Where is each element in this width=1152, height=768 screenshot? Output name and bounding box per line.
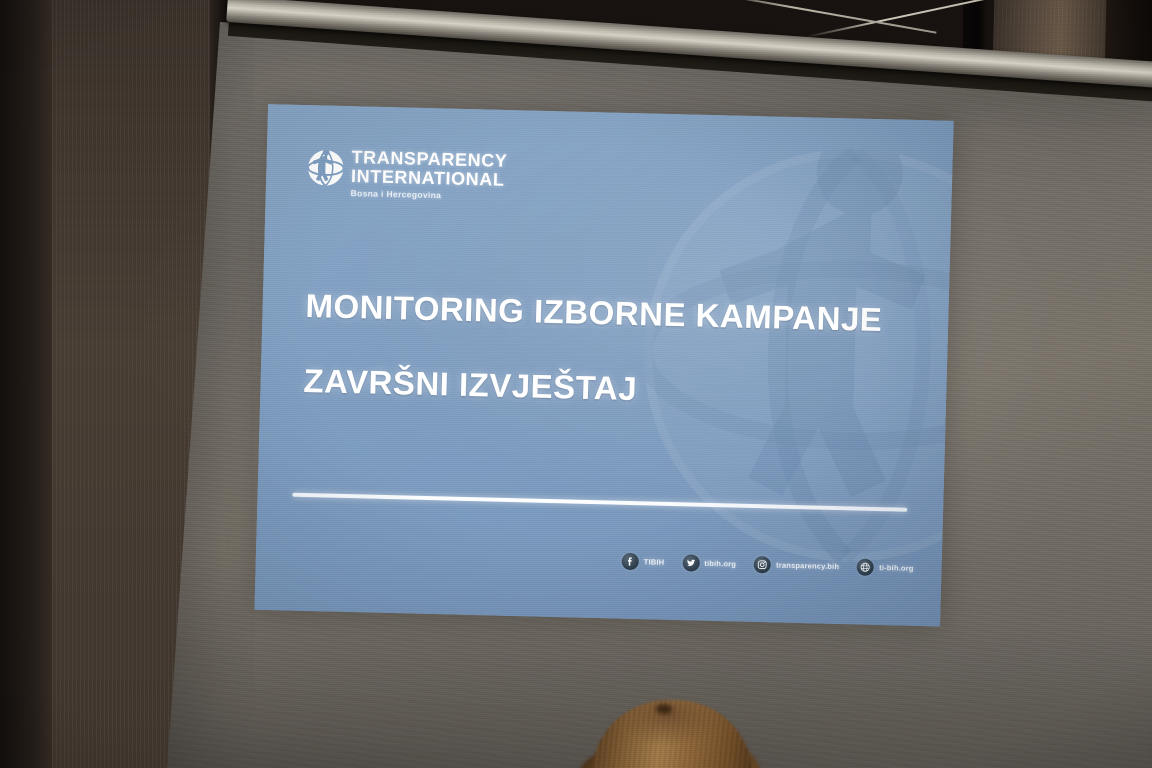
hair-part: [656, 704, 672, 714]
social-item-instagram: transparency.bih: [754, 556, 840, 575]
projected-slide: TRANSPARENCY INTERNATIONAL Bosna i Herce…: [254, 104, 953, 627]
conference-room-scene: TRANSPARENCY INTERNATIONAL Bosna i Herce…: [0, 0, 1152, 768]
transparency-international-logo: TRANSPARENCY INTERNATIONAL Bosna i Herce…: [307, 147, 508, 201]
slide-title-block: MONITORING IZBORNE KAMPANJE ZAVRŠNI IZVJ…: [303, 289, 906, 412]
social-item-facebook: TIBIH: [622, 553, 665, 571]
logo-wordmark: TRANSPARENCY INTERNATIONAL Bosna i Herce…: [350, 148, 507, 201]
facebook-icon: [622, 553, 639, 570]
logo-line-international: INTERNATIONAL: [351, 167, 507, 190]
social-item-twitter: tibih.org: [682, 554, 736, 572]
social-item-website: ti-bih.org: [857, 559, 914, 577]
wall-edge-far-left: [0, 0, 52, 768]
social-label-website: ti-bih.org: [879, 563, 914, 573]
twitter-icon: [682, 554, 699, 571]
social-label-facebook: TIBIH: [644, 557, 665, 566]
social-label-twitter: tibih.org: [704, 559, 736, 569]
instagram-icon: [754, 556, 771, 573]
social-label-instagram: transparency.bih: [776, 561, 839, 572]
globe-icon: [857, 559, 874, 576]
hair: [592, 700, 752, 768]
audience-member-head: [570, 694, 780, 768]
transparency-international-globe-icon: [307, 149, 345, 187]
